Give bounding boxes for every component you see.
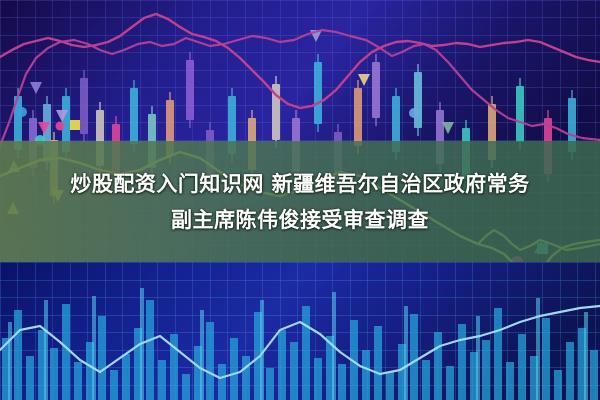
stock-chart-svg	[0, 0, 600, 400]
green-band	[0, 141, 600, 262]
chart-background	[0, 0, 600, 400]
banner-graphic: 炒股配资入门知识网 新疆维吾尔自治区政府常务 副主席陈伟俊接受审查调查	[0, 0, 600, 400]
